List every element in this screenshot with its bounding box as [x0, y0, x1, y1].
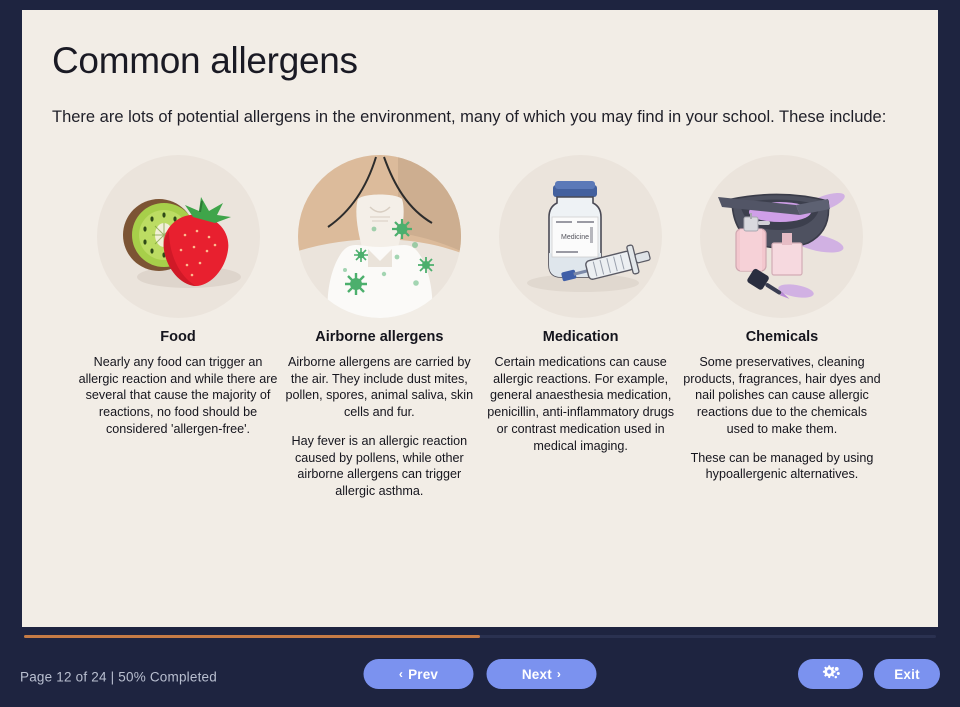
exit-button[interactable]: Exit [874, 659, 940, 689]
prev-button[interactable]: ‹ Prev [364, 659, 474, 689]
page-title: Common allergens [52, 40, 908, 83]
allergen-column-chemicals: Chemicals Some preservatives, cleaning p… [682, 155, 882, 483]
settings-button[interactable] [798, 659, 863, 689]
allergen-paragraph: These can be managed by using hypoallerg… [682, 450, 882, 483]
footer-bar: Page 12 of 24 | 50% Completed ‹ Prev Nex… [0, 627, 960, 707]
allergen-heading: Medication [543, 329, 619, 345]
slide-content: Common allergens There are lots of poten… [22, 10, 938, 500]
footer-right-actions: Exit [798, 659, 940, 689]
chevron-left-icon: ‹ [399, 668, 403, 680]
allergen-body: Certain medications can cause allergic r… [481, 354, 681, 454]
page-status-text: Page 12 of 24 | 50% Completed [20, 670, 217, 685]
allergen-column-airborne: Airborne allergens Airborne allergens ar… [279, 155, 479, 500]
progress-bar-fill [24, 635, 480, 638]
exit-button-label: Exit [894, 667, 920, 682]
gears-icon [821, 665, 841, 684]
allergen-body: Nearly any food can trigger an allergic … [78, 354, 278, 438]
progress-bar [24, 635, 936, 638]
allergen-heading: Food [160, 329, 195, 345]
fruit-kiwi-strawberry-icon [97, 155, 260, 318]
allergen-body: Airborne allergens are carried by the ai… [279, 354, 479, 500]
allergen-paragraph: Some preservatives, cleaning products, f… [682, 354, 882, 438]
allergen-heading: Airborne allergens [315, 329, 443, 345]
slide-card: Common allergens There are lots of poten… [22, 10, 938, 627]
allergen-columns: Food Nearly any food can trigger an alle… [52, 155, 908, 500]
slide-intro-text: There are lots of potential allergens in… [52, 105, 897, 129]
next-button[interactable]: Next › [487, 659, 597, 689]
allergen-column-food: Food Nearly any food can trigger an alle… [78, 155, 278, 438]
medicine-vial-syringe-icon: Medicine [499, 155, 662, 318]
prev-button-label: Prev [408, 667, 438, 682]
hair-dye-nail-polish-icon [700, 155, 863, 318]
allergen-heading: Chemicals [746, 329, 819, 345]
chevron-right-icon: › [557, 668, 561, 680]
allergen-paragraph: Certain medications can cause allergic r… [481, 354, 681, 454]
person-pollen-airborne-icon [298, 155, 461, 318]
next-button-label: Next [522, 667, 552, 682]
allergen-paragraph: Hay fever is an allergic reaction caused… [279, 433, 479, 500]
allergen-column-medication: Medicine [481, 155, 681, 454]
allergen-paragraph: Airborne allergens are carried by the ai… [279, 354, 479, 421]
vial-label-text: Medicine [561, 234, 589, 241]
allergen-body: Some preservatives, cleaning products, f… [682, 354, 882, 483]
navigation-buttons: ‹ Prev Next › [364, 659, 597, 689]
allergen-paragraph: Nearly any food can trigger an allergic … [78, 354, 278, 438]
